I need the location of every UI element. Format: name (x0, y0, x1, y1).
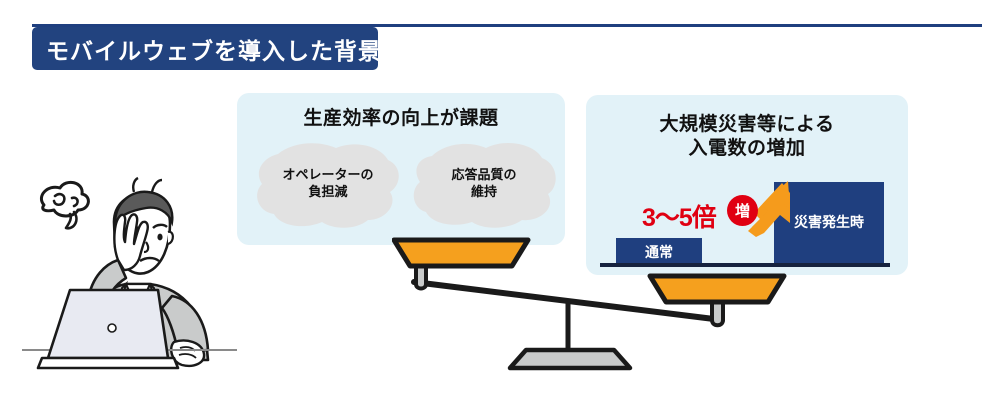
blob-line-2: 負担減 (308, 184, 347, 199)
balance-scale-illustration (392, 232, 802, 372)
troubled-operator-illustration (22, 160, 237, 375)
scale-pan-left (394, 240, 528, 266)
increase-badge: 増 (727, 195, 758, 226)
blob-operator-burden: オペレーターの 負担減 (252, 140, 404, 232)
scale-base (510, 350, 630, 368)
blob-line-1: 応答品質の (451, 167, 516, 182)
blob-response-quality-label: 応答品質の 維持 (408, 166, 560, 200)
thought-scribble-icon (41, 182, 88, 228)
eye-right (157, 234, 162, 241)
blob-line-2: 維持 (471, 184, 497, 199)
blob-response-quality: 応答品質の 維持 (408, 140, 560, 232)
scale-pan-right (650, 276, 784, 302)
page-title: モバイルウェブを導入した背景 (32, 32, 382, 66)
laptop-logo (108, 324, 116, 332)
laptop-screen (48, 290, 168, 358)
blob-line-1: オペレーターの (282, 167, 373, 182)
panel-left-heading: 生産効率の向上が課題 (237, 107, 565, 131)
page-title-banner: モバイルウェブを導入した背景 (32, 27, 378, 70)
laptop-base (38, 358, 178, 368)
multiplier-annotation: 3〜5倍 (642, 198, 716, 234)
blob-operator-burden-label: オペレーターの 負担減 (252, 166, 404, 200)
slide-canvas: モバイルウェブを導入した背景 (0, 0, 1001, 407)
